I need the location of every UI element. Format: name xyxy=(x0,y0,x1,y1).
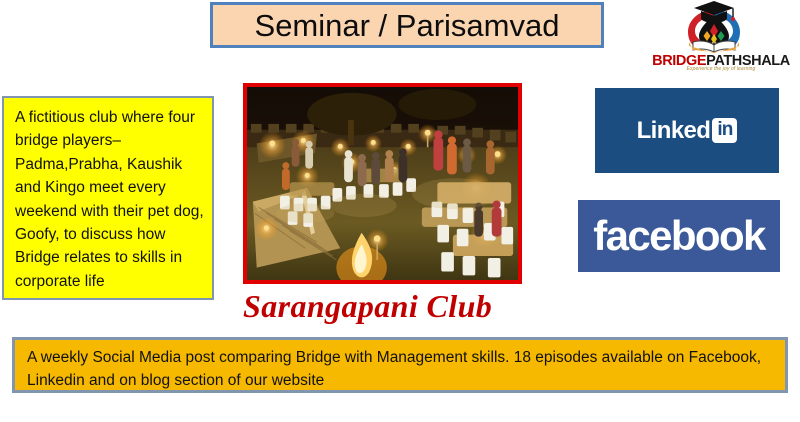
linkedin-in-chip: in xyxy=(712,118,737,143)
brand-logo: BRIDGEPATHSHALA Experience the joy of le… xyxy=(645,0,797,74)
club-name-caption: Sarangapani Club xyxy=(243,288,543,325)
linkedin-in-text: in xyxy=(717,120,732,139)
club-night-gathering-photo xyxy=(247,87,518,282)
linkedin-wordmark: Linked xyxy=(637,119,711,143)
linkedin-logo: Linked in xyxy=(637,118,738,143)
bottom-banner-text: A weekly Social Media post comparing Bri… xyxy=(27,346,775,392)
linkedin-badge[interactable]: Linked in xyxy=(595,88,779,173)
club-description-text: A fictitious club where four bridge play… xyxy=(15,106,204,293)
seminar-title-box: Seminar / Parisamvad xyxy=(210,2,604,48)
page-title: Seminar / Parisamvad xyxy=(255,10,560,41)
club-photo-frame xyxy=(243,83,522,284)
graduation-cap-spade-book-icon xyxy=(678,1,750,53)
facebook-badge[interactable]: facebook xyxy=(578,200,780,272)
club-description-box: A fictitious club where four bridge play… xyxy=(2,96,214,300)
brand-tagline: Experience the joy of learning xyxy=(645,66,797,72)
bottom-banner: A weekly Social Media post comparing Bri… xyxy=(12,337,788,393)
facebook-wordmark: facebook xyxy=(593,215,765,257)
